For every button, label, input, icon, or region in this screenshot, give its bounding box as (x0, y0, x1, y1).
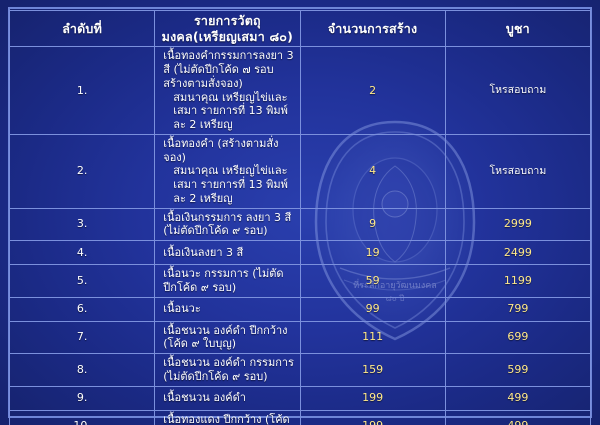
row-no: 10. (10, 410, 155, 425)
table-header-row: ลำดับที่ รายการวัตถุมงคล(เหรียญเสมา ๘๐) … (10, 11, 591, 47)
table-row: 10. เนื้อทองแดง ปีกกว้าง (โค้ด ๙ ใบบุญ) … (10, 410, 591, 425)
row-price: 2999 (445, 208, 590, 241)
row-quantity: 199 (300, 410, 445, 425)
row-description: เนื้อทองแดง ปีกกว้าง (โค้ด ๙ ใบบุญ) (155, 410, 300, 425)
table-body: 1. เนื้อทองคำกรรมการลงยา 3 สี (ไม่ตัดปีก… (10, 47, 591, 425)
table-row: 7. เนื้อชนวน องค์ดำ ปีกกว้าง (โค้ด ๙ ใบบ… (10, 321, 591, 354)
row-price: โหรสอบถาม (445, 47, 590, 135)
row-price: 699 (445, 321, 590, 354)
row-quantity: 99 (300, 297, 445, 321)
row-quantity: 2 (300, 47, 445, 135)
row-description-sub: สมนาคุณ เหรียญไข่และเสมา รายการที่ 13 พิ… (163, 164, 296, 205)
amulet-price-list-page: ที่ระลึกอายุวัฒนมงคล ๘๐ ปี ลำดับที่ รายก… (0, 0, 600, 425)
row-quantity: 111 (300, 321, 445, 354)
table-row: 1. เนื้อทองคำกรรมการลงยา 3 สี (ไม่ตัดปีก… (10, 47, 591, 135)
row-description: เนื้อเงินกรรมการ ลงยา 3 สี (ไม่ตัดปีกโค้… (155, 208, 300, 241)
table-row: 8. เนื้อชนวน องค์ดำ กรรมการ (ไม่ตัดปีกโค… (10, 354, 591, 387)
row-no: 6. (10, 297, 155, 321)
row-price: โหรสอบถาม (445, 134, 590, 208)
row-description: เนื้อชนวน องค์ดำ (155, 386, 300, 410)
row-description: เนื้อนวะ กรรมการ (ไม่ตัดปีกโค้ด ๙ รอบ) (155, 265, 300, 298)
row-no: 1. (10, 47, 155, 135)
row-description-sub: สมนาคุณ เหรียญไข่และเสมา รายการที่ 13 พิ… (163, 91, 296, 132)
row-price: 799 (445, 297, 590, 321)
row-price: 1199 (445, 265, 590, 298)
row-description: เนื้อเงินลงยา 3 สี (155, 241, 300, 265)
row-quantity: 199 (300, 386, 445, 410)
table-row: 2. เนื้อทองคำ (สร้างตามสั่งจอง) สมนาคุณ … (10, 134, 591, 208)
row-no: 2. (10, 134, 155, 208)
row-price: 499 (445, 386, 590, 410)
row-no: 9. (10, 386, 155, 410)
table-row: 9. เนื้อชนวน องค์ดำ 199 499 (10, 386, 591, 410)
row-no: 5. (10, 265, 155, 298)
row-description-main: เนื้อทองคำ (สร้างตามสั่งจอง) (163, 137, 278, 164)
row-no: 3. (10, 208, 155, 241)
row-no: 4. (10, 241, 155, 265)
row-quantity: 4 (300, 134, 445, 208)
table-row: 6. เนื้อนวะ 99 799 (10, 297, 591, 321)
row-quantity: 59 (300, 265, 445, 298)
table-row: 4. เนื้อเงินลงยา 3 สี 19 2499 (10, 241, 591, 265)
row-quantity: 19 (300, 241, 445, 265)
row-price: 2499 (445, 241, 590, 265)
row-description: เนื้อทองคำกรรมการลงยา 3 สี (ไม่ตัดปีกโค้… (155, 47, 300, 135)
row-no: 7. (10, 321, 155, 354)
row-description: เนื้อทองคำ (สร้างตามสั่งจอง) สมนาคุณ เหร… (155, 134, 300, 208)
row-price: 499 (445, 410, 590, 425)
row-description: เนื้อชนวน องค์ดำ ปีกกว้าง (โค้ด ๙ ใบบุญ) (155, 321, 300, 354)
col-header-price: บูชา (445, 11, 590, 47)
row-description-main: เนื้อทองคำกรรมการลงยา 3 สี (ไม่ตัดปีกโค้… (163, 49, 293, 90)
row-description: เนื้อชนวน องค์ดำ กรรมการ (ไม่ตัดปีกโค้ด … (155, 354, 300, 387)
col-header-quantity: จำนวนการสร้าง (300, 11, 445, 47)
row-no: 8. (10, 354, 155, 387)
table-row: 5. เนื้อนวะ กรรมการ (ไม่ตัดปีกโค้ด ๙ รอบ… (10, 265, 591, 298)
row-quantity: 9 (300, 208, 445, 241)
table-head: ลำดับที่ รายการวัตถุมงคล(เหรียญเสมา ๘๐) … (10, 11, 591, 47)
col-header-no: ลำดับที่ (10, 11, 155, 47)
table-row: 3. เนื้อเงินกรรมการ ลงยา 3 สี (ไม่ตัดปีก… (10, 208, 591, 241)
row-description: เนื้อนวะ (155, 297, 300, 321)
amulet-table: ลำดับที่ รายการวัตถุมงคล(เหรียญเสมา ๘๐) … (9, 10, 591, 425)
col-header-description: รายการวัตถุมงคล(เหรียญเสมา ๘๐) (155, 11, 300, 47)
row-quantity: 159 (300, 354, 445, 387)
row-price: 599 (445, 354, 590, 387)
